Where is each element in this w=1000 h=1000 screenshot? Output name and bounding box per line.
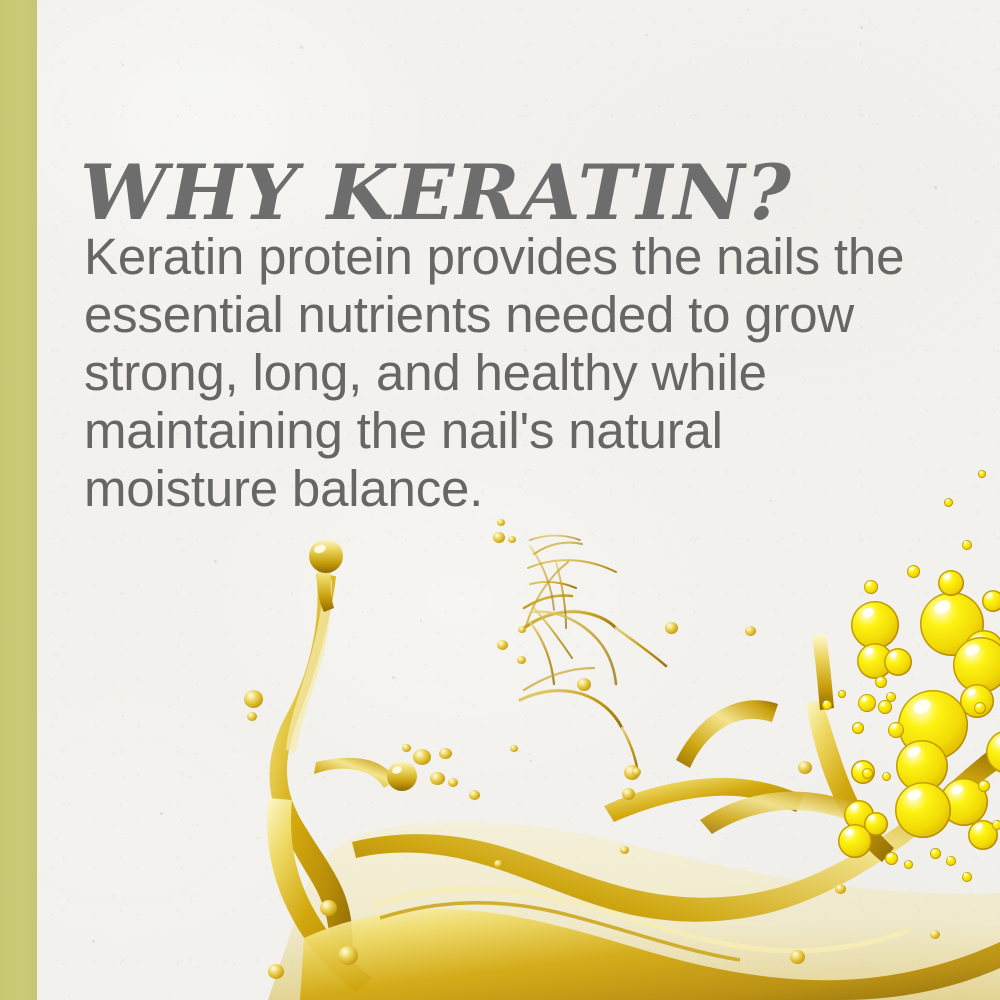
paper-speck [934,186,937,189]
body-line: moisture balance. [84,460,964,518]
paper-speck [122,64,124,66]
paper-speck [300,46,303,49]
paper-speck [700,900,702,902]
left-accent-stripe [0,0,37,1000]
body-line: maintaining the nail's natural [84,402,964,460]
keratin-infographic-poster: WHY KERATIN? Keratin protein provides th… [0,0,1000,1000]
body-line: essential nutrients needed to grow [84,286,964,344]
paper-speck [420,620,422,622]
paper-speck [92,940,95,943]
paper-speck [160,812,163,815]
paper-speck [530,760,532,762]
body-line: Keratin protein provides the nails the [84,228,964,286]
body-paragraph: Keratin protein provides the nails the e… [84,228,964,518]
paper-speck [860,26,863,29]
body-line: strong, long, and healthy while [84,344,964,402]
paper-speck [646,34,648,36]
paper-speck [392,676,395,679]
paper-speck [214,560,217,563]
page-title: WHY KERATIN? [80,155,855,231]
